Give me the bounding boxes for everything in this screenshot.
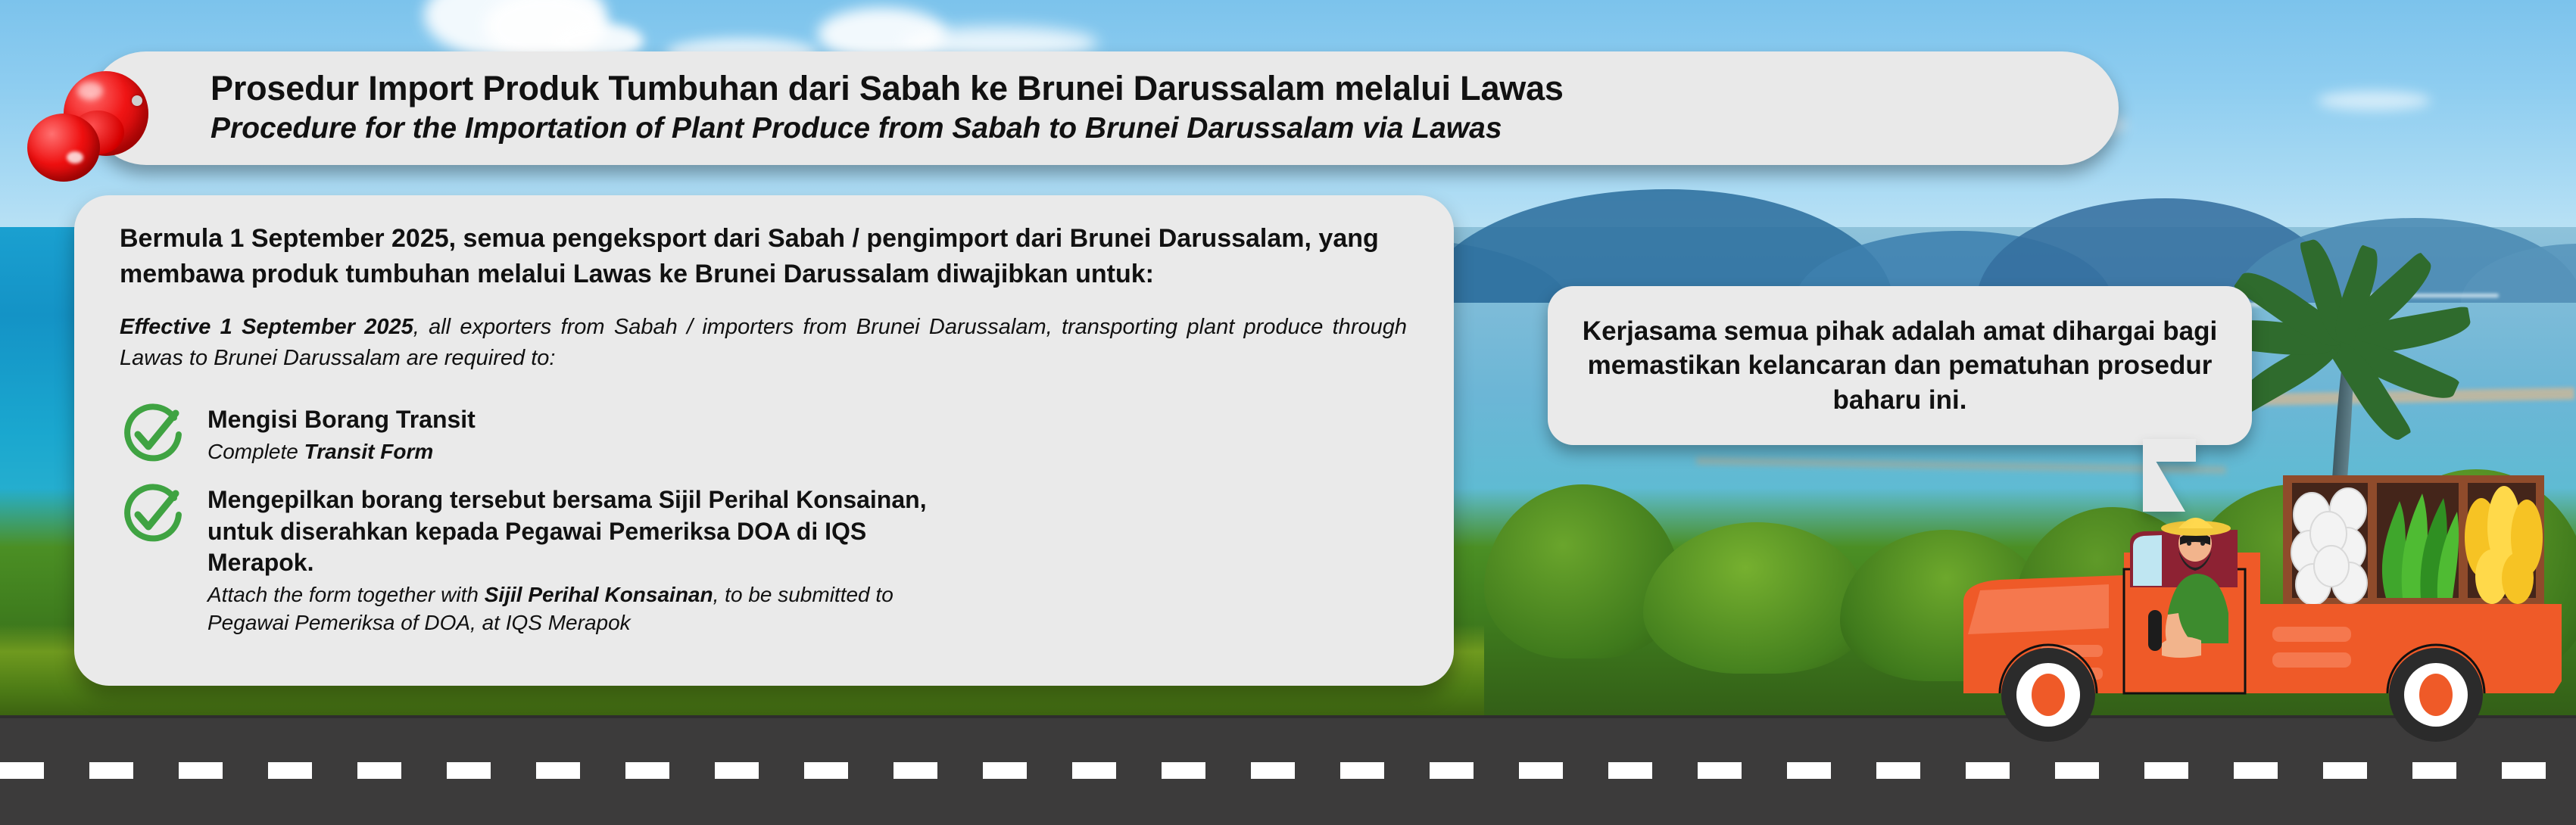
checklist-item-en: Complete Transit Form <box>207 437 476 466</box>
chk-en-bold: Transit Form <box>304 440 434 463</box>
red-pushpin-icon <box>21 67 165 188</box>
cloud <box>2317 91 2431 111</box>
speech-bubble-text: Kerjasama semua pihak adalah amat diharg… <box>1548 314 2252 418</box>
intro-paragraph-en: Effective 1 September 2025, all exporter… <box>120 312 1407 374</box>
green-check-circle-icon <box>120 401 185 466</box>
intro-paragraph-ms: Bermula 1 September 2025, semua pengeksp… <box>120 221 1410 292</box>
green-check-circle-icon <box>120 481 185 546</box>
page-title-en: Procedure for the Importation of Plant P… <box>211 111 2076 147</box>
intro-ms-lead: Bermula 1 September 2025, <box>120 224 456 253</box>
main-content-card: Bermula 1 September 2025, semua pengeksp… <box>74 195 1454 686</box>
page-title-ms: Prosedur Import Produk Tumbuhan dari Sab… <box>211 70 2076 107</box>
checklist-item-text: Mengisi Borang Transit Complete Transit … <box>207 400 476 465</box>
title-banner: Prosedur Import Produk Tumbuhan dari Sab… <box>89 51 2119 165</box>
checklist-item-ms: Mengepilkan borang tersebut bersama Siji… <box>207 484 965 579</box>
chk-en-bold: Sijil Perihal Konsainan <box>485 583 713 606</box>
checklist-item-text: Mengepilkan borang tersebut bersama Siji… <box>207 480 972 637</box>
poster-canvas: Prosedur Import Produk Tumbuhan dari Sab… <box>0 0 2576 825</box>
chk-en-prefix: Complete <box>207 440 304 463</box>
speech-bubble: Kerjasama semua pihak adalah amat diharg… <box>1548 286 2252 445</box>
checklist-item: Mengepilkan borang tersebut bersama Siji… <box>120 480 1410 637</box>
pushpin-tip <box>27 114 100 182</box>
intro-en-lead: Effective 1 September 2025 <box>120 315 413 339</box>
checklist-item-ms: Mengisi Borang Transit <box>207 404 476 436</box>
pushpin-highlight <box>132 95 142 106</box>
speech-bubble-tail <box>2143 439 2196 512</box>
requirements-checklist: Mengisi Borang Transit Complete Transit … <box>120 400 1410 637</box>
chk-en-prefix: Attach the form together with <box>207 583 485 606</box>
orange-pickup-truck-illustration <box>1935 454 2576 772</box>
checklist-item: Mengisi Borang Transit Complete Transit … <box>120 400 1410 466</box>
checklist-item-en: Attach the form together with Sijil Peri… <box>207 581 972 637</box>
